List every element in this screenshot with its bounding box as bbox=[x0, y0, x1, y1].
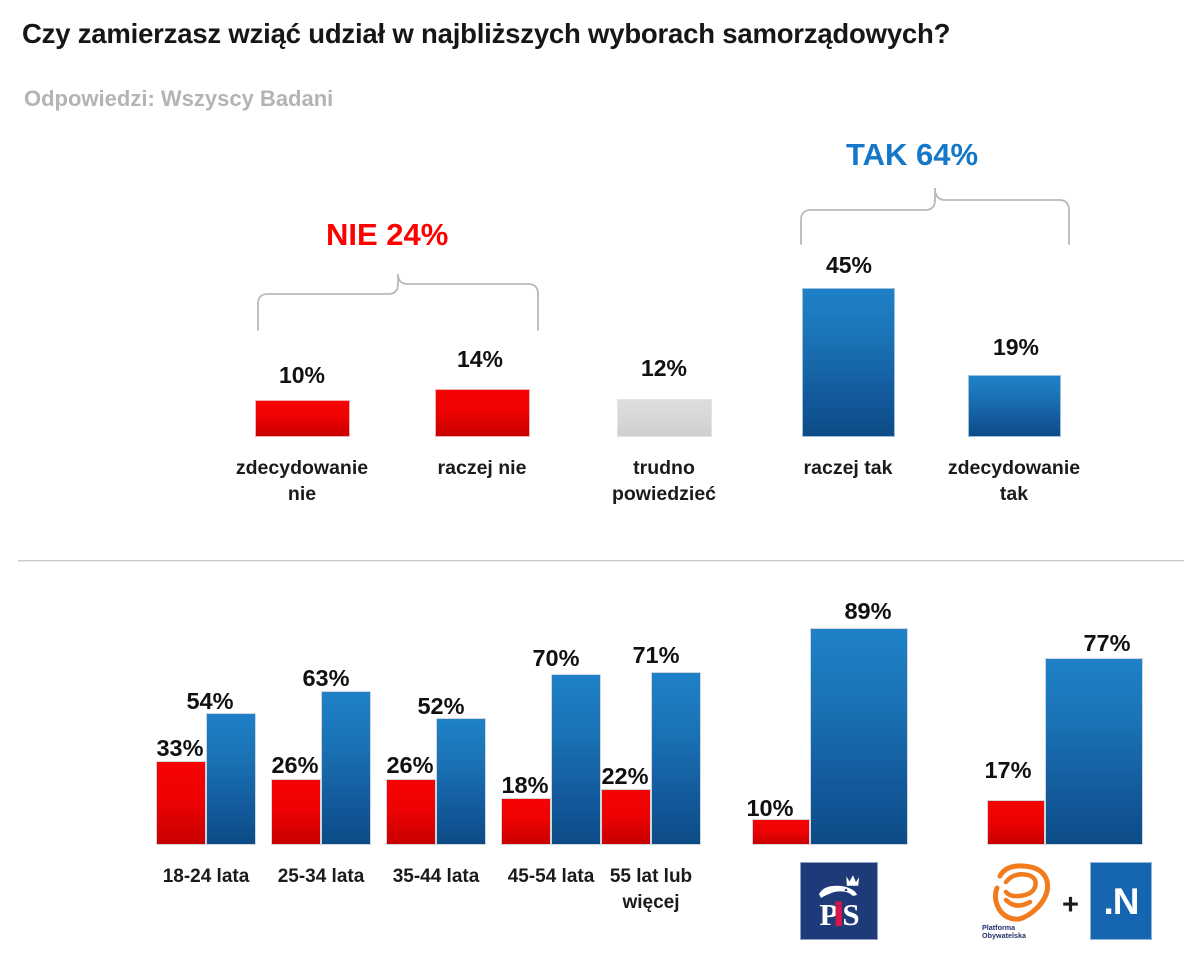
bottom-value-yes-6: 77% bbox=[1072, 630, 1142, 657]
top-bar-0 bbox=[255, 400, 350, 437]
nowoczesna-logo: .N bbox=[1090, 862, 1152, 940]
top-bar-label-4: zdecydowanietak bbox=[914, 455, 1114, 507]
bottom-bar-yes-6 bbox=[1045, 658, 1143, 845]
top-chart: NIE 24% TAK 64% 10% zdecydowanienie 14% … bbox=[0, 0, 1200, 560]
top-bar-value-0: 10% bbox=[207, 362, 397, 389]
bottom-bar-no-0 bbox=[156, 761, 206, 845]
bottom-value-no-2: 26% bbox=[380, 752, 440, 779]
bottom-value-yes-3: 70% bbox=[526, 645, 586, 672]
top-bar-label-0: zdecydowanienie bbox=[202, 455, 402, 507]
top-bar-label-2: trudnopowiedzieć bbox=[564, 455, 764, 507]
bottom-value-yes-2: 52% bbox=[411, 693, 471, 720]
bottom-value-no-1: 26% bbox=[265, 752, 325, 779]
nie-group-label: NIE 24% bbox=[326, 217, 448, 253]
bottom-bar-yes-1 bbox=[321, 691, 371, 845]
nie-brace bbox=[250, 272, 550, 334]
bottom-bar-yes-2 bbox=[436, 718, 486, 845]
bottom-value-no-6: 17% bbox=[978, 757, 1038, 784]
bottom-value-yes-0: 54% bbox=[180, 688, 240, 715]
po-logo-caption: Platforma Obywatelska bbox=[982, 924, 1068, 940]
plus-icon: + bbox=[1062, 889, 1079, 922]
bottom-value-no-4: 22% bbox=[595, 763, 655, 790]
tak-group-label: TAK 64% bbox=[846, 137, 978, 173]
top-bar-3 bbox=[802, 288, 895, 437]
bottom-bar-no-4 bbox=[601, 789, 651, 845]
po-logo-mark bbox=[986, 862, 1058, 924]
bottom-chart: 33% 54% 18-24 lata 26% 63% 25-34 lata 26… bbox=[0, 560, 1200, 962]
top-bar-value-4: 19% bbox=[921, 334, 1111, 361]
top-bar-value-2: 12% bbox=[569, 355, 759, 382]
bottom-bar-yes-4 bbox=[651, 672, 701, 845]
tak-brace bbox=[793, 186, 1078, 248]
po-name-line2: Obywatelska bbox=[982, 931, 1026, 940]
top-bar-2 bbox=[617, 399, 712, 437]
infographic-root: Czy zamierzasz wziąć udział w najbliższy… bbox=[0, 0, 1200, 962]
top-bar-1 bbox=[435, 389, 530, 437]
bottom-bar-yes-0 bbox=[206, 713, 256, 845]
bottom-value-no-0: 33% bbox=[150, 735, 210, 762]
bottom-bar-no-3 bbox=[501, 798, 551, 845]
nowoczesna-logo-text: .N bbox=[1104, 883, 1139, 920]
bottom-bar-no-1 bbox=[271, 779, 321, 845]
bottom-value-yes-1: 63% bbox=[296, 665, 356, 692]
bottom-value-no-3: 18% bbox=[495, 772, 555, 799]
bottom-value-yes-5: 89% bbox=[833, 598, 903, 625]
bottom-bar-yes-3 bbox=[551, 674, 601, 845]
bottom-value-yes-4: 71% bbox=[626, 642, 686, 669]
bottom-bar-yes-5 bbox=[810, 628, 908, 845]
top-bar-label-1: raczej nie bbox=[382, 455, 582, 481]
bottom-group-label-4: 55 lat lubwięcej bbox=[581, 864, 721, 916]
top-bar-value-3: 45% bbox=[754, 252, 944, 279]
pis-logo-mark: P S bbox=[801, 863, 877, 939]
pis-logo: P S bbox=[800, 862, 878, 940]
bottom-bar-no-5 bbox=[752, 819, 810, 845]
bottom-bar-no-6 bbox=[987, 800, 1045, 845]
bottom-value-no-5: 10% bbox=[740, 795, 800, 822]
bottom-bar-no-2 bbox=[386, 779, 436, 845]
top-bar-value-1: 14% bbox=[385, 346, 575, 373]
top-bar-4 bbox=[968, 375, 1061, 437]
